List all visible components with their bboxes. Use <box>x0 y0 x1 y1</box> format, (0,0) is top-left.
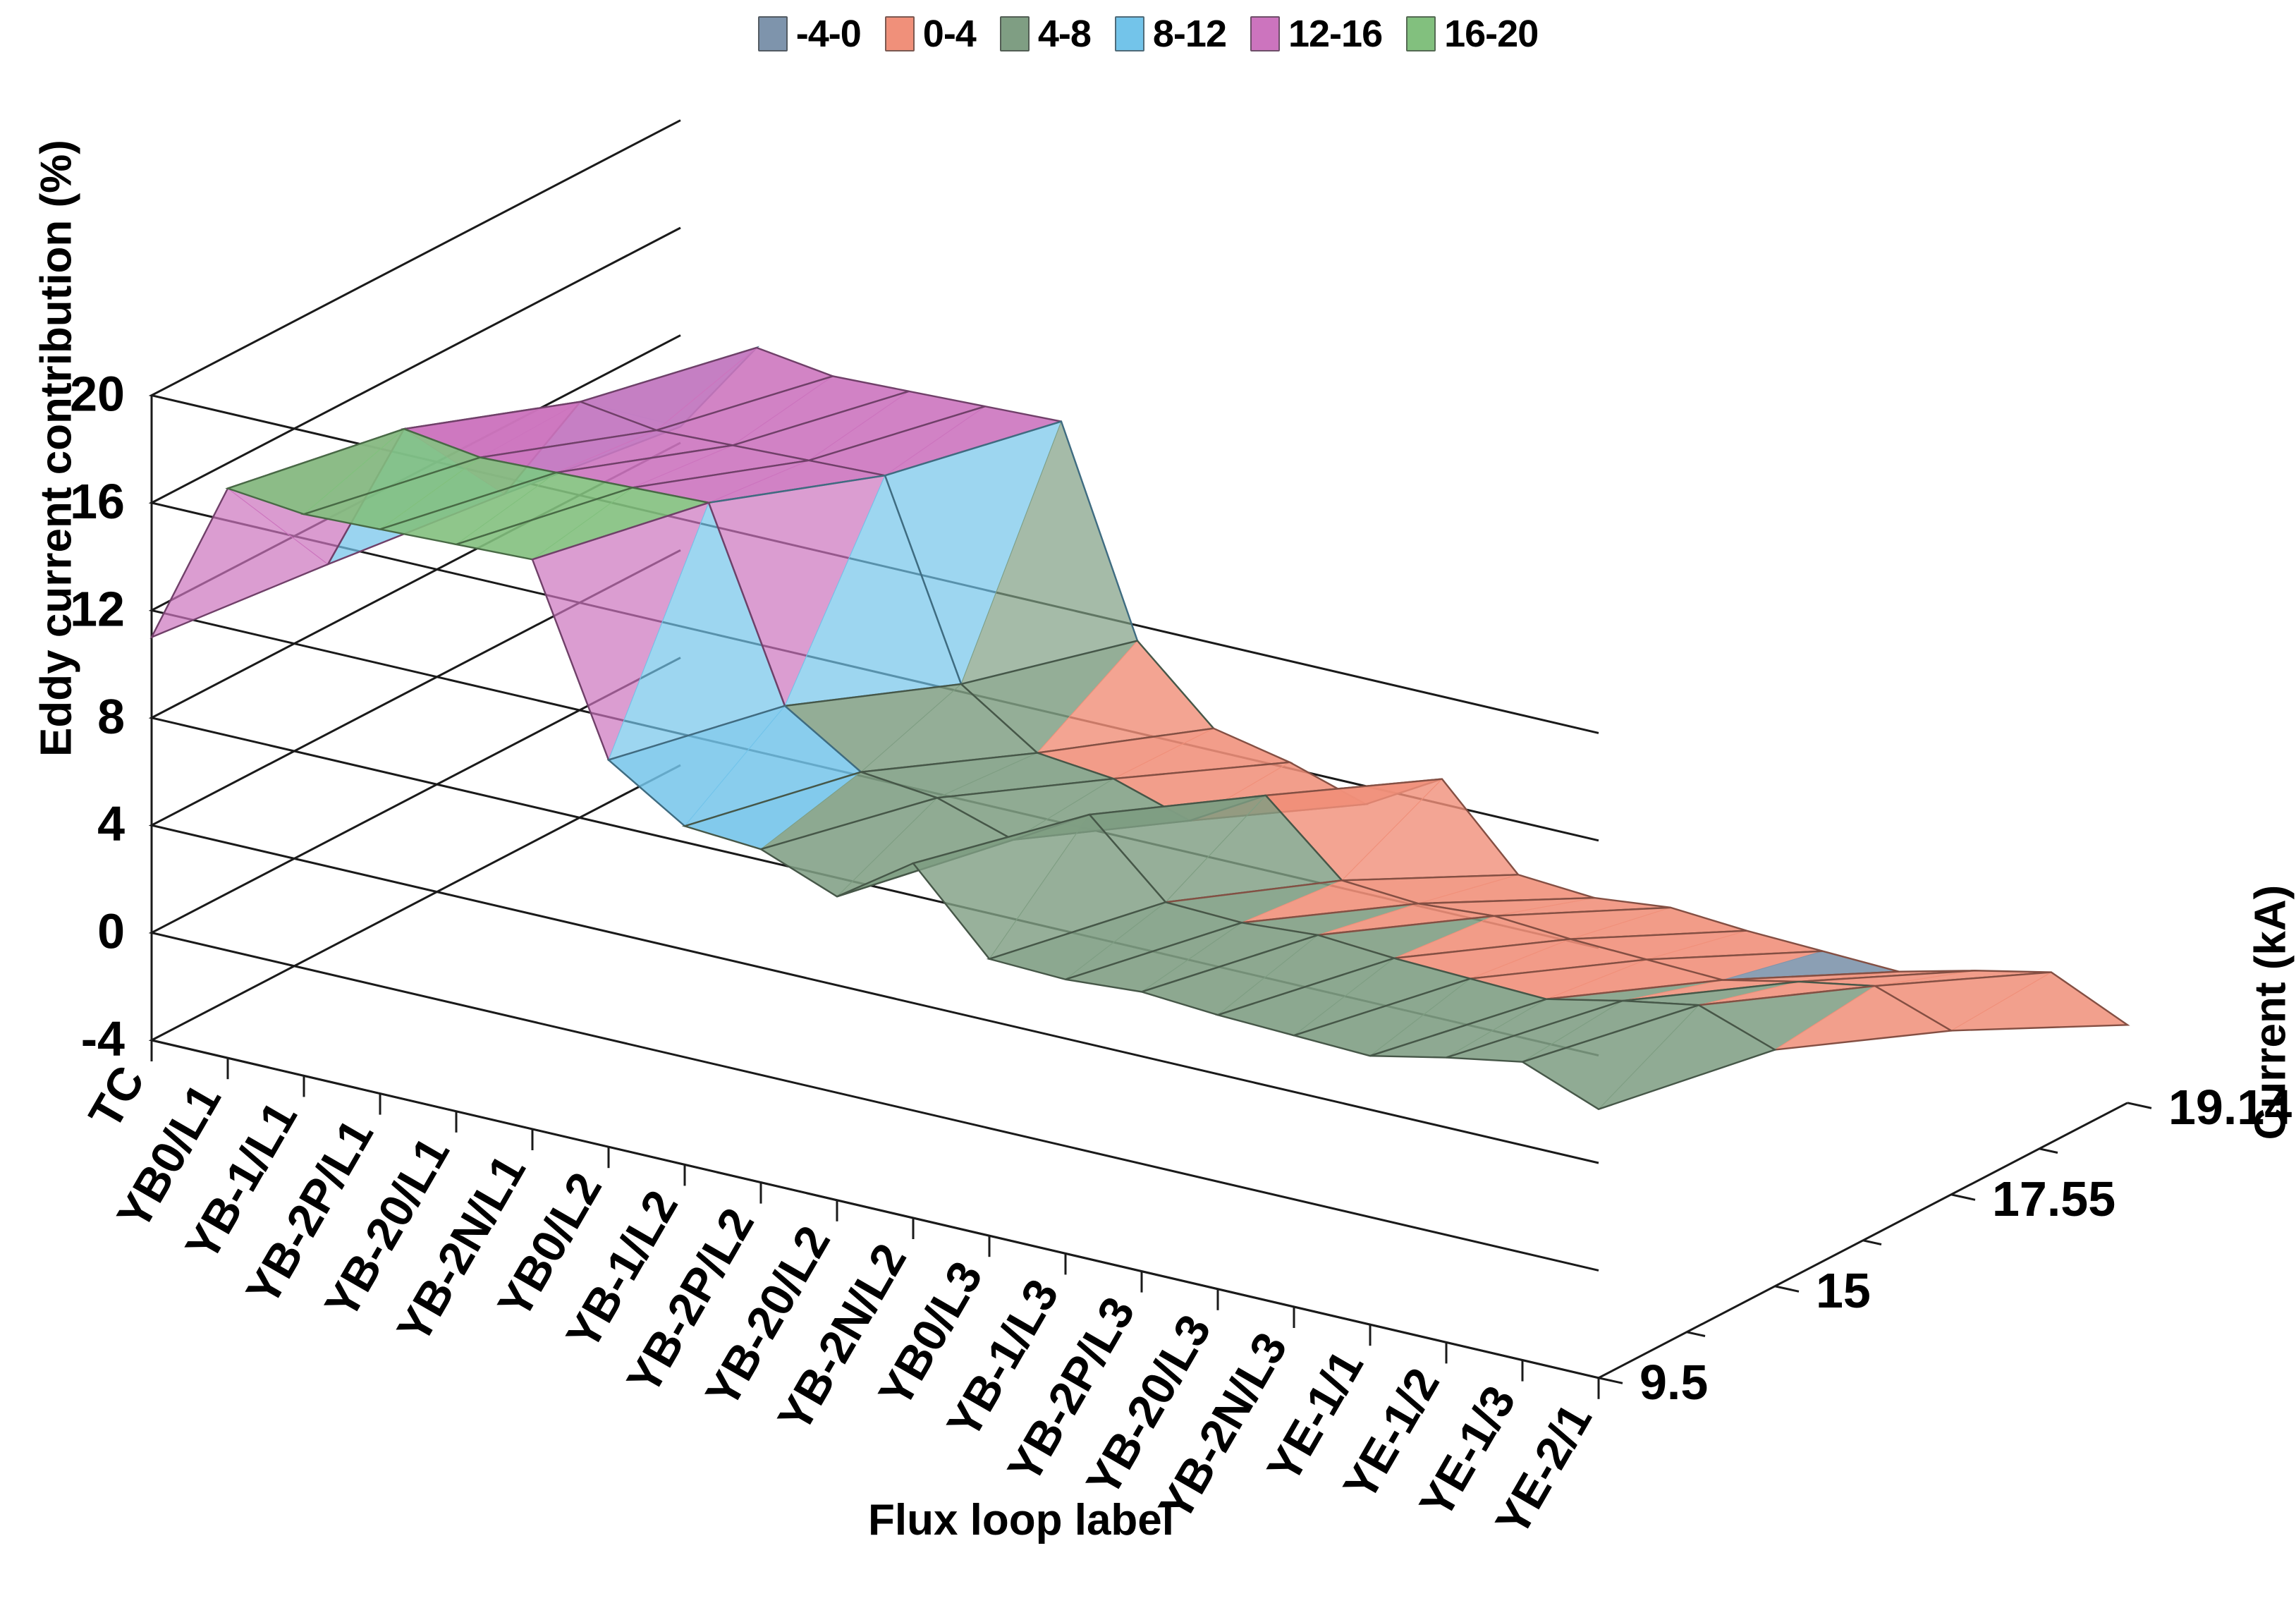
front-skirt <box>380 530 456 1111</box>
legend-item-8-12: 8-12 <box>1115 15 1226 53</box>
front-skirt <box>609 760 685 1165</box>
x-axis-title: Flux loop label <box>584 1495 1458 1545</box>
current-tick-major <box>2127 1103 2151 1108</box>
front-skirt <box>761 849 837 1200</box>
legend-swatch-icon <box>1406 16 1436 51</box>
y-axis-title: Eddy current contribution (%) <box>32 61 82 836</box>
legend-label: 0-4 <box>923 15 976 53</box>
z-tick-label: -4 <box>81 1011 125 1066</box>
legend-label: 16-20 <box>1444 15 1538 53</box>
legend-swatch-icon <box>1000 16 1030 51</box>
front-skirt <box>685 826 761 1182</box>
plot-svg: 201612840-4TCYB0/L1YB-1/L1YB-2P/L1YB-20/… <box>0 63 2296 1615</box>
legend-label: 4-8 <box>1038 15 1091 53</box>
legend-item--4-0: -4-0 <box>758 15 861 53</box>
legend-item-0-4: 0-4 <box>885 15 976 53</box>
chart-legend: -4-00-44-88-1212-1616-20 <box>0 6 2296 62</box>
legend-swatch-icon <box>758 16 788 51</box>
front-skirt <box>837 863 913 1218</box>
front-skirt <box>989 959 1065 1254</box>
current-tick-minor <box>2039 1149 2058 1153</box>
front-skirt <box>304 514 380 1093</box>
front-skirt <box>228 488 304 1075</box>
surface-plot: 201612840-4TCYB0/L1YB-1/L1YB-2P/L1YB-20/… <box>0 63 2296 1615</box>
legend-label: -4-0 <box>796 15 861 53</box>
current-tick-minor <box>1687 1332 1705 1336</box>
legend-item-12-16: 12-16 <box>1250 15 1382 53</box>
current-tick-label: 15 <box>1816 1263 1871 1318</box>
legend-label: 12-16 <box>1288 15 1382 53</box>
z-tick-label: 0 <box>97 904 125 959</box>
current-tick-minor <box>1863 1241 1881 1245</box>
current-tick-label: 9.5 <box>1639 1355 1708 1410</box>
legend-swatch-icon <box>1250 16 1280 51</box>
current-tick-label: 17.55 <box>1992 1171 2115 1226</box>
front-skirt <box>1446 1058 1522 1360</box>
legend-item-16-20: 16-20 <box>1406 15 1538 53</box>
current-tick-major <box>1599 1378 1623 1383</box>
z-tick-label: 4 <box>97 796 125 851</box>
front-skirt <box>1065 980 1142 1272</box>
front-skirt <box>152 488 228 1058</box>
z-axis-title: Current (kA) <box>2246 709 2296 1316</box>
legend-swatch-icon <box>885 16 915 51</box>
legend-item-4-8: 4-8 <box>1000 15 1091 53</box>
legend-swatch-icon <box>1115 16 1144 51</box>
front-skirt <box>1370 1056 1446 1342</box>
x-tick-label: TC <box>78 1057 154 1137</box>
front-skirt <box>1218 1015 1294 1307</box>
z-tick-label: 8 <box>97 689 125 744</box>
current-tick-major <box>1775 1286 1799 1291</box>
current-tick-major <box>1951 1195 1975 1200</box>
legend-label: 8-12 <box>1153 15 1226 53</box>
front-skirt <box>1142 992 1218 1288</box>
front-skirt <box>1522 1062 1599 1378</box>
front-skirt <box>456 544 532 1129</box>
front-skirt <box>1294 1035 1370 1324</box>
